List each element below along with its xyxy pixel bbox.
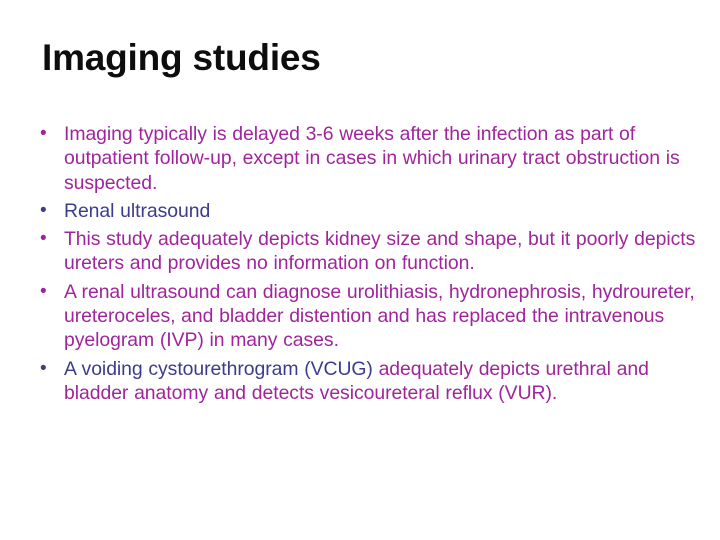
list-item-text: Imaging typically is delayed 3-6 weeks a… [64,122,696,195]
text-segment: This study adequately depicts kidney siz… [64,228,695,274]
bullet-point-icon: • [36,122,64,146]
text-segment: Renal ultrasound [64,200,210,222]
list-item-text: A renal ultrasound can diagnose urolithi… [64,280,696,353]
presentation-slide: Imaging studies •Imaging typically is de… [0,0,720,540]
bullet-point-icon: • [36,227,64,251]
list-item-text: Renal ultrasound [64,199,696,223]
text-segment: A voiding cystourethrogram (VCUG) [64,358,379,380]
text-segment: Imaging typically is delayed 3-6 weeks a… [64,123,680,194]
list-item-text: A voiding cystourethrogram (VCUG) adequa… [64,357,696,406]
list-item: •This study adequately depicts kidney si… [36,227,696,276]
list-item: •Renal ultrasound [36,199,696,223]
bullet-list: •Imaging typically is delayed 3-6 weeks … [36,122,696,409]
text-segment: A renal ultrasound can diagnose urolithi… [64,281,695,352]
bullet-point-icon: • [36,357,64,381]
bullet-point-icon: • [36,280,64,304]
list-item: •Imaging typically is delayed 3-6 weeks … [36,122,696,195]
page-title: Imaging studies [42,39,321,78]
list-item-text: This study adequately depicts kidney siz… [64,227,696,276]
bullet-point-icon: • [36,199,64,223]
list-item: •A voiding cystourethrogram (VCUG) adequ… [36,357,696,406]
list-item: •A renal ultrasound can diagnose urolith… [36,280,696,353]
